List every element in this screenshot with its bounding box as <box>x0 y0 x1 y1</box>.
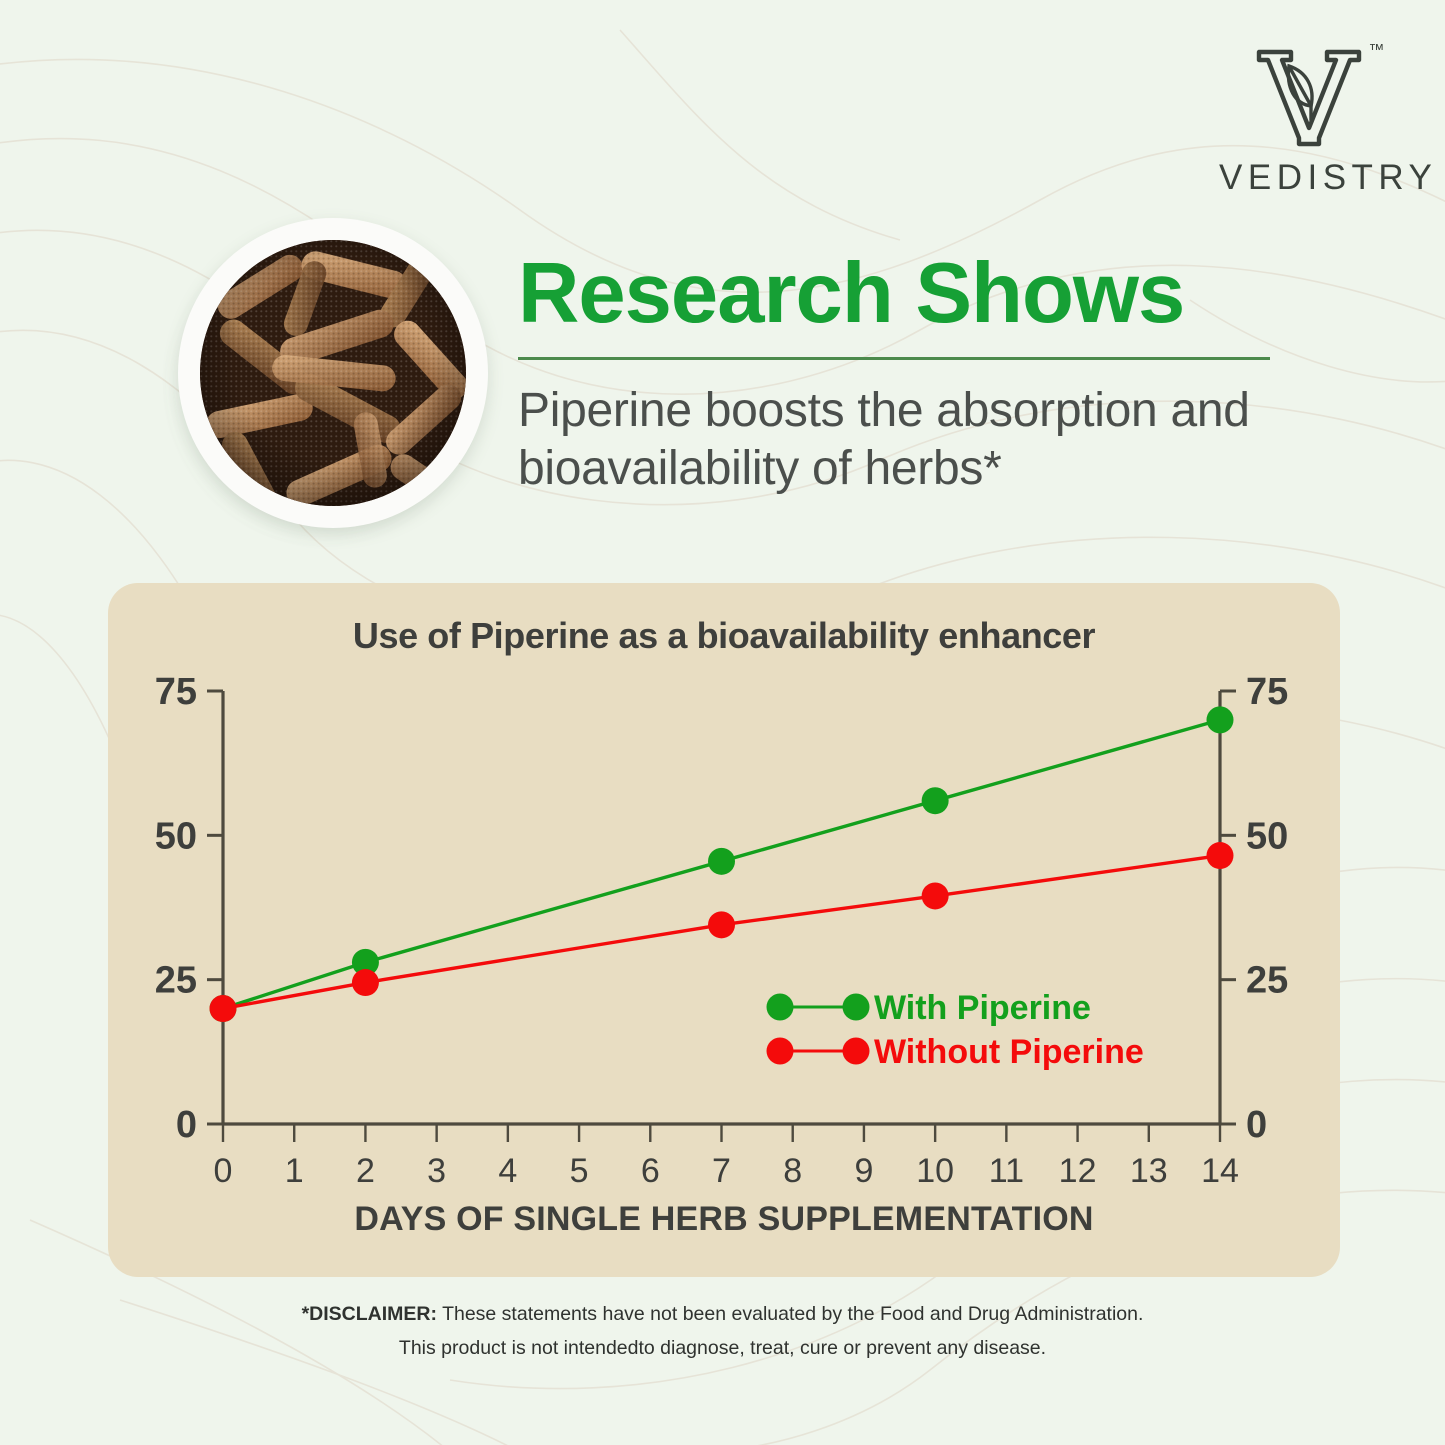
legend-marker <box>843 1038 870 1065</box>
data-point <box>922 787 949 814</box>
legend-marker <box>767 1038 794 1065</box>
disclaimer-line-2: This product is not intendedto diagnose,… <box>0 1331 1445 1365</box>
y-tick-label-right: 0 <box>1246 1104 1267 1146</box>
brand-logo: ™ VEDISTRY <box>1219 40 1399 198</box>
photo-image <box>200 240 466 506</box>
y-tick-label-right: 50 <box>1246 815 1288 857</box>
disclaimer-label: *DISCLAIMER: <box>302 1303 437 1325</box>
title-divider <box>518 357 1270 360</box>
legend-marker <box>843 994 870 1021</box>
x-tick-label: 1 <box>285 1152 304 1190</box>
x-tick-label: 10 <box>916 1152 954 1190</box>
disclaimer-line-1: *DISCLAIMER: These statements have not b… <box>0 1297 1445 1331</box>
y-tick-label-right: 25 <box>1246 960 1288 1002</box>
long-pepper-photo <box>178 218 488 528</box>
x-tick-label: 3 <box>427 1152 446 1190</box>
chart-panel: Use of Piperine as a bioavailability enh… <box>108 583 1340 1277</box>
x-tick-label: 4 <box>498 1152 517 1190</box>
data-point <box>210 995 237 1022</box>
legend-marker <box>767 994 794 1021</box>
y-tick-label-right: 75 <box>1246 671 1288 713</box>
x-tick-label: 8 <box>783 1152 802 1190</box>
x-tick-label: 5 <box>570 1152 589 1190</box>
data-point <box>922 882 949 909</box>
y-tick-label-left: 0 <box>176 1104 197 1146</box>
v-leaf-monogram-icon: ™ <box>1249 40 1369 152</box>
legend-label: With Piperine <box>874 989 1091 1027</box>
hero-section: Research Shows Piperine boosts the absor… <box>0 210 1445 550</box>
hero-subtitle: Piperine boosts the absorption and bioav… <box>518 382 1288 499</box>
y-tick-label-left: 50 <box>155 815 197 857</box>
x-tick-label: 13 <box>1130 1152 1168 1190</box>
x-tick-label: 11 <box>989 1152 1024 1190</box>
page-title: Research Shows <box>518 254 1288 335</box>
x-tick-label: 6 <box>641 1152 660 1190</box>
legend-label: Without Piperine <box>874 1033 1144 1071</box>
x-tick-label: 9 <box>854 1152 873 1190</box>
y-tick-label-left: 75 <box>155 671 197 713</box>
data-point <box>708 848 735 875</box>
data-point <box>708 911 735 938</box>
x-tick-label: 12 <box>1059 1152 1097 1190</box>
x-tick-label: 7 <box>712 1152 731 1190</box>
y-tick-label-left: 25 <box>155 960 197 1002</box>
line-chart: 0255075025507501234567891011121314With P… <box>108 583 1340 1277</box>
x-tick-label: 2 <box>356 1152 375 1190</box>
data-point <box>1207 842 1234 869</box>
hero-text-block: Research Shows Piperine boosts the absor… <box>518 254 1288 499</box>
disclaimer: *DISCLAIMER: These statements have not b… <box>0 1297 1445 1365</box>
disclaimer-text-1: These statements have not been evaluated… <box>437 1303 1143 1325</box>
data-point <box>352 969 379 996</box>
brand-wordmark: VEDISTRY <box>1219 158 1399 198</box>
data-point <box>1207 706 1234 733</box>
x-tick-label: 14 <box>1201 1152 1239 1190</box>
trademark-symbol: ™ <box>1369 42 1386 60</box>
x-axis-label: DAYS OF SINGLE HERB SUPPLEMENTATION <box>108 1200 1340 1239</box>
x-tick-label: 0 <box>214 1152 233 1190</box>
